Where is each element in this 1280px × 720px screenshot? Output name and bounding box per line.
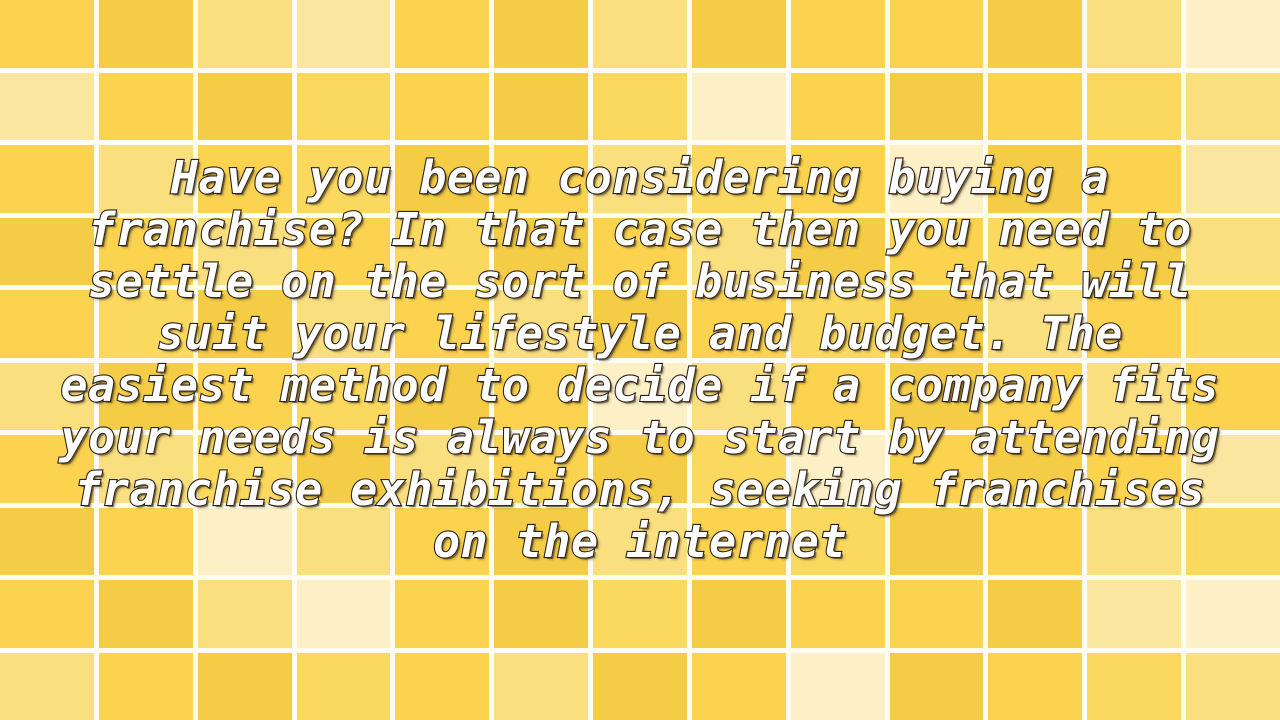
background-tile xyxy=(494,145,588,213)
background-tile xyxy=(791,0,885,68)
background-tile xyxy=(692,653,786,720)
background-tile xyxy=(99,580,193,648)
background-tile xyxy=(0,145,94,213)
background-tile xyxy=(791,580,885,648)
background-tile xyxy=(395,363,489,431)
background-tile xyxy=(99,145,193,213)
background-tile xyxy=(198,0,292,68)
tile-background xyxy=(0,0,1280,720)
background-tile xyxy=(198,435,292,503)
background-tile xyxy=(1087,508,1181,576)
background-tile xyxy=(988,508,1082,576)
background-tile xyxy=(890,435,984,503)
background-tile xyxy=(890,73,984,141)
background-tile xyxy=(395,290,489,358)
background-tile xyxy=(692,73,786,141)
background-tile xyxy=(297,290,391,358)
background-tile xyxy=(297,218,391,286)
background-tile xyxy=(692,145,786,213)
background-tile xyxy=(494,218,588,286)
background-tile xyxy=(1087,0,1181,68)
background-tile xyxy=(297,435,391,503)
background-tile xyxy=(1087,73,1181,141)
background-tile xyxy=(890,290,984,358)
background-tile xyxy=(297,653,391,720)
background-tile xyxy=(791,508,885,576)
background-tile xyxy=(395,218,489,286)
background-tile xyxy=(395,145,489,213)
background-tile xyxy=(692,580,786,648)
background-tile xyxy=(593,363,687,431)
background-tile xyxy=(99,363,193,431)
background-tile xyxy=(890,218,984,286)
background-tile xyxy=(1186,0,1280,68)
background-tile xyxy=(395,580,489,648)
background-tile xyxy=(791,290,885,358)
background-tile xyxy=(1087,218,1181,286)
background-tile xyxy=(692,290,786,358)
background-tile xyxy=(1186,508,1280,576)
background-tile xyxy=(0,580,94,648)
background-tile xyxy=(791,218,885,286)
background-tile xyxy=(692,363,786,431)
background-tile xyxy=(988,0,1082,68)
background-tile xyxy=(297,508,391,576)
background-tile xyxy=(99,218,193,286)
background-tile xyxy=(0,0,94,68)
background-tile xyxy=(0,73,94,141)
background-tile xyxy=(1087,290,1181,358)
background-tile xyxy=(692,508,786,576)
background-tile xyxy=(297,580,391,648)
background-tile xyxy=(1186,435,1280,503)
background-tile xyxy=(99,435,193,503)
background-tile xyxy=(1186,73,1280,141)
background-tile xyxy=(890,653,984,720)
background-tile xyxy=(297,145,391,213)
background-tile xyxy=(198,218,292,286)
background-tile xyxy=(988,435,1082,503)
background-tile xyxy=(593,145,687,213)
background-tile xyxy=(198,653,292,720)
background-tile xyxy=(297,363,391,431)
background-tile xyxy=(1186,145,1280,213)
background-tile xyxy=(1186,580,1280,648)
background-tile xyxy=(890,580,984,648)
background-tile xyxy=(988,145,1082,213)
background-tile xyxy=(1186,653,1280,720)
background-tile xyxy=(791,363,885,431)
background-tile xyxy=(297,73,391,141)
background-tile xyxy=(791,73,885,141)
background-tile xyxy=(1087,145,1181,213)
background-tile xyxy=(593,435,687,503)
background-tile xyxy=(890,363,984,431)
background-tile xyxy=(791,145,885,213)
background-tile xyxy=(395,0,489,68)
background-tile xyxy=(1087,435,1181,503)
background-tile xyxy=(890,508,984,576)
background-tile xyxy=(0,290,94,358)
background-tile xyxy=(692,218,786,286)
background-tile xyxy=(890,145,984,213)
background-tile xyxy=(988,580,1082,648)
background-tile xyxy=(0,363,94,431)
background-tile xyxy=(593,73,687,141)
background-tile xyxy=(1186,290,1280,358)
background-tile xyxy=(494,653,588,720)
background-tile xyxy=(198,290,292,358)
background-tile xyxy=(593,653,687,720)
background-tile xyxy=(198,73,292,141)
background-tile xyxy=(988,218,1082,286)
background-tile xyxy=(988,290,1082,358)
background-tile xyxy=(395,435,489,503)
background-tile xyxy=(494,290,588,358)
background-tile xyxy=(198,363,292,431)
background-tile xyxy=(0,435,94,503)
background-tile xyxy=(593,0,687,68)
background-tile xyxy=(988,653,1082,720)
background-tile xyxy=(494,73,588,141)
background-tile xyxy=(198,145,292,213)
background-tile xyxy=(791,653,885,720)
background-tile xyxy=(593,290,687,358)
background-tile xyxy=(494,363,588,431)
background-tile xyxy=(1087,363,1181,431)
background-tile xyxy=(593,580,687,648)
background-tile xyxy=(494,0,588,68)
background-tile xyxy=(1087,653,1181,720)
background-tile xyxy=(593,508,687,576)
background-tile xyxy=(395,73,489,141)
background-tile xyxy=(593,218,687,286)
background-tile xyxy=(494,580,588,648)
background-tile xyxy=(198,508,292,576)
background-tile xyxy=(395,653,489,720)
background-tile xyxy=(99,508,193,576)
background-tile xyxy=(494,508,588,576)
background-tile xyxy=(791,435,885,503)
background-tile xyxy=(99,290,193,358)
background-tile xyxy=(0,508,94,576)
background-tile xyxy=(692,0,786,68)
background-tile xyxy=(198,580,292,648)
background-tile xyxy=(0,218,94,286)
background-tile xyxy=(890,0,984,68)
background-tile xyxy=(395,508,489,576)
background-tile xyxy=(0,653,94,720)
background-tile xyxy=(297,0,391,68)
quote-card: Have you been considering buying afranch… xyxy=(0,0,1280,720)
background-tile xyxy=(988,73,1082,141)
background-tile xyxy=(99,0,193,68)
background-tile xyxy=(988,363,1082,431)
background-tile xyxy=(1186,363,1280,431)
background-tile xyxy=(1087,580,1181,648)
background-tile xyxy=(692,435,786,503)
background-tile xyxy=(99,653,193,720)
background-tile xyxy=(494,435,588,503)
background-tile xyxy=(99,73,193,141)
background-tile xyxy=(1186,218,1280,286)
